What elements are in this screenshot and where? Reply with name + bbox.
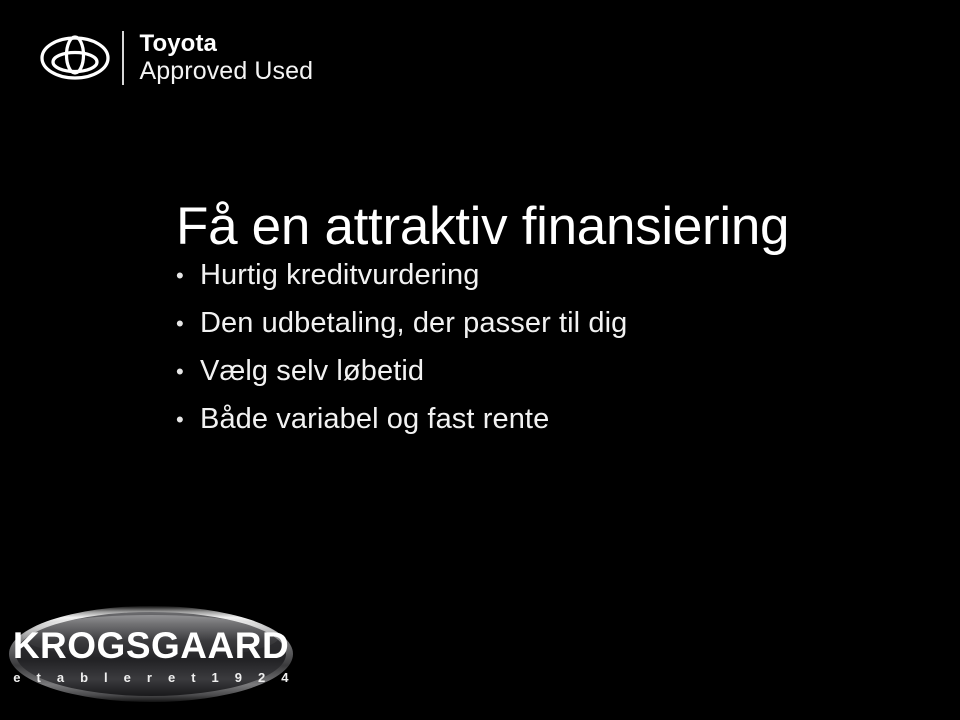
list-item-label: Både variabel og fast rente bbox=[200, 405, 876, 434]
benefit-list: • Hurtig kreditvurdering • Den udbetalin… bbox=[176, 261, 876, 453]
bullet-icon: • bbox=[176, 409, 200, 431]
list-item: • Den udbetaling, der passer til dig bbox=[176, 309, 876, 357]
brand-program: Approved Used bbox=[140, 58, 314, 84]
bullet-icon: • bbox=[176, 361, 200, 383]
dealer-tagline: e t a b l e r e t 1 9 2 4 bbox=[13, 670, 294, 685]
bullet-icon: • bbox=[176, 313, 200, 335]
list-item: • Både variabel og fast rente bbox=[176, 405, 876, 453]
page-title: Få en attraktiv finansiering bbox=[176, 198, 876, 255]
slide-content: Få en attraktiv finansiering • Hurtig kr… bbox=[176, 198, 876, 453]
bullet-icon: • bbox=[176, 265, 200, 287]
list-item-label: Den udbetaling, der passer til dig bbox=[200, 309, 876, 338]
list-item: • Hurtig kreditvurdering bbox=[176, 261, 876, 309]
dealer-name: KROGSGAARD bbox=[13, 625, 289, 666]
list-item-label: Hurtig kreditvurdering bbox=[200, 261, 876, 290]
brand-wordmark: Toyota Approved Used bbox=[140, 32, 314, 85]
toyota-emblem-icon bbox=[40, 33, 110, 83]
brand-name: Toyota bbox=[140, 32, 314, 57]
krogsgaard-oval-badge-icon: KROGSGAARD e t a b l e r e t 1 9 2 4 bbox=[8, 604, 294, 704]
brand-divider bbox=[122, 31, 124, 85]
list-item-label: Vælg selv løbetid bbox=[200, 357, 876, 386]
toyota-brand-lockup: Toyota Approved Used bbox=[40, 28, 313, 88]
list-item: • Vælg selv løbetid bbox=[176, 357, 876, 405]
presentation-slide: Toyota Approved Used Få en attraktiv fin… bbox=[0, 0, 960, 720]
dealer-logo: KROGSGAARD e t a b l e r e t 1 9 2 4 bbox=[8, 604, 294, 704]
